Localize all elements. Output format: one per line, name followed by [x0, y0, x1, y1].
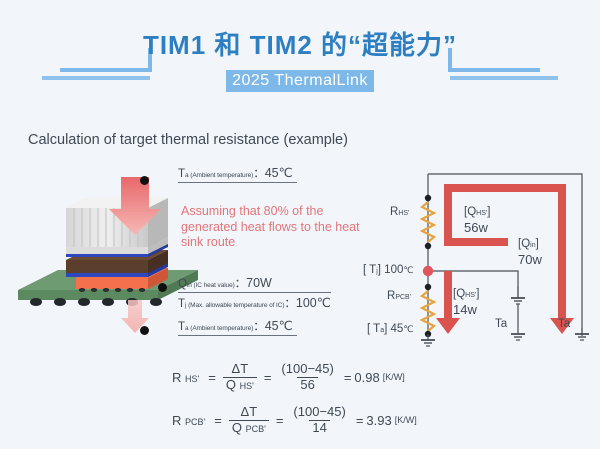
f1-result: 0.98	[354, 370, 379, 385]
callout-tj-sub: j (Max. allowable temperature of IC)	[185, 302, 284, 309]
circuit-tj-close: ] 100	[378, 264, 404, 276]
f2-frac1: ΔT Q PCB'	[229, 405, 269, 435]
callout-ta-bottom-value: 45℃	[265, 319, 293, 333]
circuit-ground-label-mid: Ta	[495, 318, 507, 330]
circuit-ta-open: [ T	[367, 323, 380, 335]
formula-r-hs: R HS' = ΔT Q HS' = (100−45) 56 = 0.98 [K…	[172, 362, 405, 392]
f2-lhs: R PCB'	[172, 413, 205, 428]
q-in-close: ]	[536, 238, 539, 250]
callout-ta-top-symbol: T	[178, 168, 185, 180]
callout-ta-top-sub: a (Ambient temperature)	[185, 172, 253, 179]
circuit-label-q-hs-bottom: [QHS'] 14w	[453, 287, 479, 318]
q-hs-top-open: [Q	[464, 206, 476, 218]
f2-eq1: =	[214, 413, 222, 428]
decoration-bracket-right	[448, 48, 558, 80]
heat-flow-arrows	[18, 175, 198, 340]
f2-frac2: (100−45) 14	[290, 405, 348, 435]
circuit-tj-open: [ T	[363, 264, 376, 276]
circuit-label-ta: [ Ta] 45℃	[367, 323, 413, 335]
ground-middle	[511, 286, 525, 340]
flow-path-qin	[550, 184, 574, 334]
callout-ic-heat-value: Qin (IC heat value)：70W	[178, 275, 276, 291]
formula-r-pcb: R PCB' = ΔT Q PCB' = (100−45) 14 = 3.93 …	[172, 405, 417, 435]
callout-ambient-bottom: Ta (Ambient temperature)：45℃	[178, 318, 297, 336]
circuit-label-r-pcb: RPCB'	[387, 290, 411, 302]
f2-den1: Q PCB'	[229, 420, 269, 436]
page-header: TIM1 和 TIM2 的“超能力” 2025 ThermalLink	[0, 0, 600, 110]
q-hs-bot-close: ]	[476, 288, 479, 300]
f1-eq1: =	[208, 370, 216, 385]
circuit-label-q-in: [Qin] 70w	[518, 237, 542, 268]
f1-lhs-sub: HS'	[185, 374, 199, 384]
callout-qin-symbol: Q	[178, 278, 187, 290]
f1-frac1: ΔT Q HS'	[223, 362, 257, 392]
f1-den1-sub: HS'	[240, 381, 254, 391]
f1-eq2: =	[264, 370, 272, 385]
q-hs-top-value: 56w	[464, 220, 488, 235]
f2-unit: [K/W]	[395, 415, 417, 425]
callout-tj-sep: ：	[284, 298, 296, 310]
circuit-node-lower-mid	[425, 284, 431, 290]
circuit-label-r-hs: RHS'	[390, 206, 409, 218]
circuit-label-tj: [ Tj] 100℃	[363, 264, 413, 276]
f1-lhs: R HS'	[172, 370, 199, 385]
f2-num2: (100−45)	[290, 405, 348, 420]
circuit-ta-close: ] 45	[384, 323, 403, 335]
assumption-note: Assuming that 80% of the generated heat …	[181, 204, 366, 251]
callout-qin-value: 70W	[246, 276, 272, 290]
ground-left	[421, 334, 435, 346]
leader-dot-tj	[158, 283, 167, 292]
q-hs-top-close: ]	[487, 206, 490, 218]
f1-num2: (100−45)	[278, 362, 336, 377]
circuit-r-hs-sub: HS'	[398, 210, 409, 217]
callout-ambient-top: Ta (Ambient temperature)：45℃	[178, 165, 297, 183]
f1-unit: [K/W]	[383, 372, 405, 382]
circuit-ground-label-right: Ta	[558, 318, 570, 330]
leader-dot-ta-bottom	[140, 326, 149, 335]
callout-ta-top-value: 45℃	[265, 166, 293, 180]
f2-eq3: =	[356, 413, 364, 428]
f2-lhs-symbol: R	[172, 413, 181, 428]
leader-dot-ta-top	[140, 176, 149, 185]
callout-ta-bottom-symbol: T	[178, 321, 185, 333]
callout-qin-sep: ：	[235, 278, 247, 290]
circuit-r-pcb-sub: PCB'	[395, 294, 411, 301]
q-hs-bot-open: [Q	[453, 288, 465, 300]
q-hs-bot-value: 14w	[453, 302, 477, 317]
q-hs-top-sub: HS'	[476, 210, 487, 217]
circuit-tj-deg: ℃	[403, 265, 413, 275]
circuit-node-tj	[423, 266, 433, 276]
circuit-node-upper-mid	[425, 243, 431, 249]
f2-eq2: =	[276, 413, 284, 428]
f1-den1: Q HS'	[223, 377, 257, 393]
circuit-label-q-hs-top: [QHS'] 56w	[464, 205, 490, 236]
f2-result: 3.93	[366, 413, 391, 428]
callout-ta-bottom-sep: ：	[253, 321, 265, 333]
f1-den1-symbol: Q	[226, 377, 236, 392]
f1-lhs-symbol: R	[172, 370, 181, 385]
f2-den1-symbol: Q	[232, 420, 242, 435]
q-in-open: [Q	[518, 238, 530, 250]
arrow-up-heatsink	[109, 177, 161, 235]
q-hs-bot-sub: HS'	[465, 292, 476, 299]
f1-num1: ΔT	[229, 362, 252, 377]
f2-lhs-sub: PCB'	[185, 417, 205, 427]
f2-den1-sub: PCB'	[246, 424, 266, 434]
callout-tj-value: 100℃	[296, 296, 331, 310]
callout-junction-temp: Tj (Max. allowable temperature of IC)：10…	[178, 292, 331, 311]
callout-qin-sub: in (IC heat value)	[187, 282, 235, 289]
section-title: Calculation of target thermal resistance…	[28, 132, 348, 148]
f2-den2: 14	[309, 420, 329, 436]
callout-ta-top-sep: ：	[253, 168, 265, 180]
page-subtitle-text: 2025 ThermalLink	[226, 70, 374, 92]
circuit-ta-deg: ℃	[403, 324, 413, 334]
f1-eq3: =	[344, 370, 352, 385]
f1-frac2: (100−45) 56	[278, 362, 336, 392]
f1-den2: 56	[297, 377, 317, 393]
f2-num1: ΔT	[238, 405, 261, 420]
ground-right	[575, 328, 589, 340]
callout-ta-bottom-sub: a (Ambient temperature)	[185, 325, 253, 332]
callout-tj-symbol: T	[178, 298, 185, 310]
q-in-value: 70w	[518, 252, 542, 267]
circuit-node-top	[425, 195, 431, 201]
